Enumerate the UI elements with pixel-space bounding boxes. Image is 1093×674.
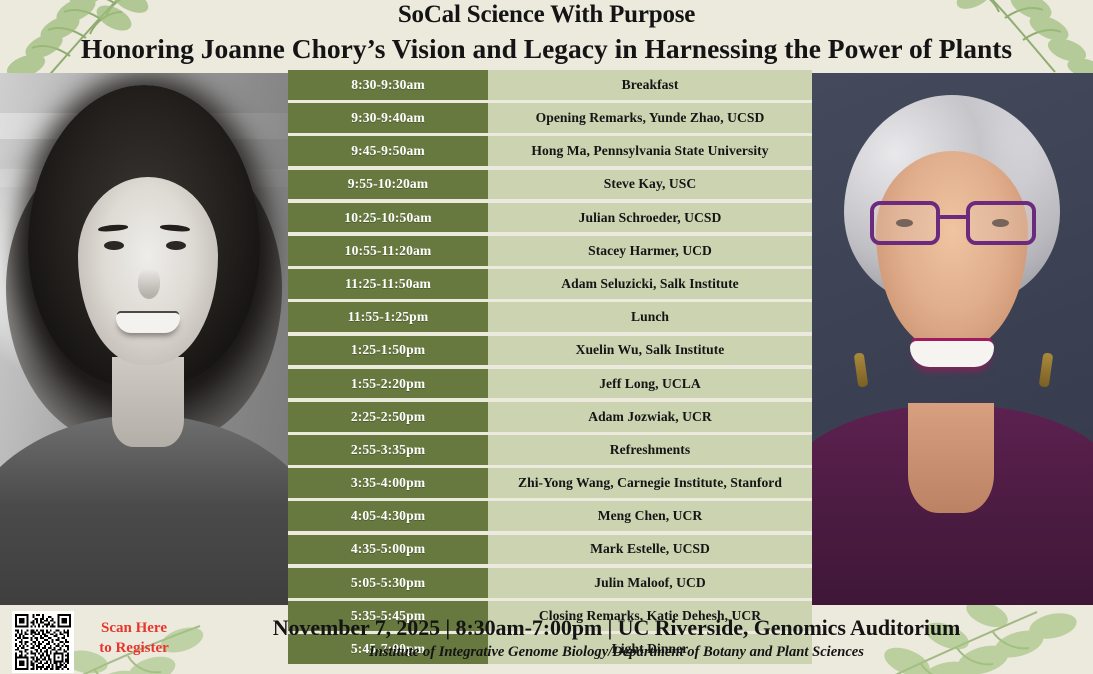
schedule-event-cell: Meng Chen, UCR xyxy=(488,501,812,531)
event-poster: SoCal Science With Purpose Honoring Joan… xyxy=(0,0,1093,674)
schedule-event-cell: Mark Estelle, UCSD xyxy=(488,535,812,565)
eyeglasses xyxy=(870,201,1036,247)
schedule-time-cell: 1:25-1:50pm xyxy=(288,336,488,366)
event-date-time-location: November 7, 2025 | 8:30am-7:00pm | UC Ri… xyxy=(150,615,1083,641)
table-row: 9:45-9:50amHong Ma, Pennsylvania State U… xyxy=(288,136,812,166)
schedule-event-cell: Lunch xyxy=(488,302,812,332)
schedule-event-cell: Steve Kay, USC xyxy=(488,170,812,200)
schedule-event-cell: Adam Jozwiak, UCR xyxy=(488,402,812,432)
page-title: SoCal Science With Purpose xyxy=(0,0,1093,28)
organizer-line: Institute of Integrative Genome Biology/… xyxy=(150,641,1083,661)
eye xyxy=(166,241,186,250)
bridge xyxy=(940,215,966,219)
schedule-event-cell: Xuelin Wu, Salk Institute xyxy=(488,336,812,366)
table-row: 4:35-5:00pmMark Estelle, UCSD xyxy=(288,535,812,565)
table-row: 1:55-2:20pmJeff Long, UCLA xyxy=(288,369,812,399)
schedule-time-cell: 9:55-10:20am xyxy=(288,170,488,200)
schedule-time-cell: 11:25-11:50am xyxy=(288,269,488,299)
schedule-time-cell: 2:55-3:35pm xyxy=(288,435,488,465)
schedule-event-cell: Breakfast xyxy=(488,70,812,100)
table-row: 10:55-11:20amStacey Harmer, UCD xyxy=(288,236,812,266)
lens xyxy=(870,201,940,245)
table-row: 8:30-9:30amBreakfast xyxy=(288,70,812,100)
schedule-event-cell: Refreshments xyxy=(488,435,812,465)
table-row: 2:25-2:50pmAdam Jozwiak, UCR xyxy=(288,402,812,432)
table-row: 1:25-1:50pmXuelin Wu, Salk Institute xyxy=(288,336,812,366)
table-row: 11:55-1:25pmLunch xyxy=(288,302,812,332)
schedule-event-cell: Opening Remarks, Yunde Zhao, UCSD xyxy=(488,103,812,133)
event-details: November 7, 2025 | 8:30am-7:00pm | UC Ri… xyxy=(150,615,1083,661)
page-subtitle: Honoring Joanne Chory’s Vision and Legac… xyxy=(0,28,1093,64)
schedule-time-cell: 2:25-2:50pm xyxy=(288,402,488,432)
schedule-event-cell: Jeff Long, UCLA xyxy=(488,369,812,399)
table-row: 9:55-10:20amSteve Kay, USC xyxy=(288,170,812,200)
table-row: 9:30-9:40amOpening Remarks, Yunde Zhao, … xyxy=(288,103,812,133)
schedule-table: 8:30-9:30amBreakfast9:30-9:40amOpening R… xyxy=(288,70,812,667)
right-portrait-photo xyxy=(812,73,1093,605)
lens xyxy=(966,201,1036,245)
table-row: 4:05-4:30pmMeng Chen, UCR xyxy=(288,501,812,531)
poster-header: SoCal Science With Purpose Honoring Joan… xyxy=(0,0,1093,73)
schedule-event-cell: Adam Seluzicki, Salk Institute xyxy=(488,269,812,299)
neck xyxy=(908,403,994,513)
schedule-time-cell: 4:35-5:00pm xyxy=(288,535,488,565)
schedule-event-cell: Stacey Harmer, UCD xyxy=(488,236,812,266)
qr-code-icon[interactable] xyxy=(12,611,74,673)
schedule-time-cell: 11:55-1:25pm xyxy=(288,302,488,332)
table-row: 11:25-11:50amAdam Seluzicki, Salk Instit… xyxy=(288,269,812,299)
schedule-time-cell: 10:55-11:20am xyxy=(288,236,488,266)
mouth xyxy=(910,341,994,367)
mouth xyxy=(116,313,180,333)
schedule-time-cell: 9:30-9:40am xyxy=(288,103,488,133)
schedule-event-cell: Julian Schroeder, UCSD xyxy=(488,203,812,233)
schedule-event-cell: Zhi-Yong Wang, Carnegie Institute, Stanf… xyxy=(488,468,812,498)
schedule-event-cell: Julin Maloof, UCD xyxy=(488,568,812,598)
table-row: 3:35-4:00pmZhi-Yong Wang, Carnegie Insti… xyxy=(288,468,812,498)
schedule-time-cell: 8:30-9:30am xyxy=(288,70,488,100)
schedule-time-cell: 3:35-4:00pm xyxy=(288,468,488,498)
nose xyxy=(138,269,160,299)
schedule-time-cell: 9:45-9:50am xyxy=(288,136,488,166)
qr-code-glyph xyxy=(15,614,71,670)
left-portrait-photo xyxy=(0,73,288,605)
schedule-time-cell: 4:05-4:30pm xyxy=(288,501,488,531)
table-row: 2:55-3:35pmRefreshments xyxy=(288,435,812,465)
schedule-time-cell: 5:05-5:30pm xyxy=(288,568,488,598)
neck xyxy=(112,357,184,447)
schedule-time-cell: 1:55-2:20pm xyxy=(288,369,488,399)
table-row: 10:25-10:50amJulian Schroeder, UCSD xyxy=(288,203,812,233)
schedule-time-cell: 10:25-10:50am xyxy=(288,203,488,233)
table-row: 5:05-5:30pmJulin Maloof, UCD xyxy=(288,568,812,598)
schedule-event-cell: Hong Ma, Pennsylvania State University xyxy=(488,136,812,166)
poster-footer: Scan Here to Register November 7, 2025 |… xyxy=(0,605,1093,674)
eye xyxy=(104,241,124,250)
